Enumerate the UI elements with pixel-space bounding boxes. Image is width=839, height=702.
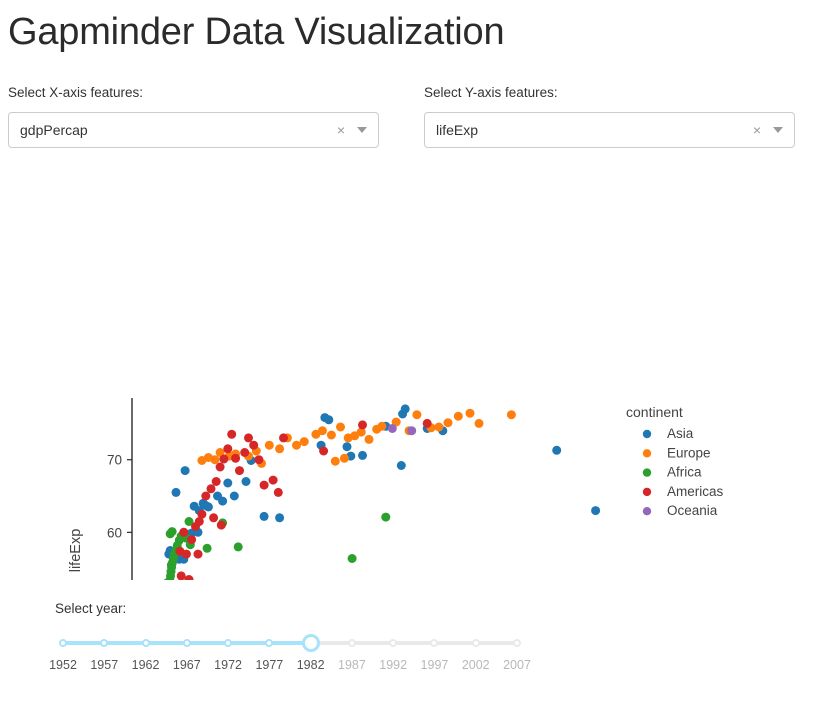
- slider-dot-2007[interactable]: [513, 639, 521, 647]
- data-point[interactable]: [234, 542, 243, 551]
- legend: continentAsiaEuropeAfricaAmericasOceania: [626, 404, 724, 518]
- data-point[interactable]: [218, 497, 227, 506]
- slider-dot-1957[interactable]: [100, 639, 108, 647]
- slider-dot-1992[interactable]: [389, 639, 397, 647]
- data-point[interactable]: [210, 455, 219, 464]
- series-oceania: [388, 424, 416, 435]
- slider-mark-1987[interactable]: 1987: [338, 658, 366, 672]
- legend-swatch-americas[interactable]: [643, 488, 651, 496]
- slider-mark-1957[interactable]: 1957: [90, 658, 118, 672]
- data-point[interactable]: [219, 455, 228, 464]
- legend-label-asia[interactable]: Asia: [667, 426, 694, 441]
- legend-swatch-africa[interactable]: [643, 468, 651, 476]
- data-point[interactable]: [175, 547, 184, 556]
- slider-dot-2002[interactable]: [472, 639, 480, 647]
- slider-dot-1997[interactable]: [430, 639, 438, 647]
- scatter-plot[interactable]: 010k20k30k40506070gdpPercaplifeExpcontin…: [0, 190, 800, 580]
- data-point[interactable]: [275, 444, 284, 453]
- data-point[interactable]: [230, 492, 239, 501]
- data-point[interactable]: [388, 424, 397, 433]
- slider-mark-1977[interactable]: 1977: [255, 658, 283, 672]
- slider-dot-1962[interactable]: [142, 639, 150, 647]
- data-point[interactable]: [179, 528, 188, 537]
- data-point[interactable]: [207, 484, 216, 493]
- legend-label-americas[interactable]: Americas: [667, 484, 724, 499]
- data-point[interactable]: [407, 426, 416, 435]
- year-slider[interactable]: [63, 636, 517, 650]
- data-point[interactable]: [227, 430, 236, 439]
- data-point[interactable]: [223, 479, 232, 488]
- data-point[interactable]: [223, 444, 232, 453]
- data-point[interactable]: [249, 441, 258, 450]
- legend-swatch-europe[interactable]: [643, 449, 651, 457]
- data-point[interactable]: [358, 420, 367, 429]
- data-point[interactable]: [292, 441, 301, 450]
- data-point[interactable]: [398, 410, 407, 419]
- legend-label-oceania[interactable]: Oceania: [667, 503, 718, 518]
- chevron-down-icon[interactable]: [357, 127, 367, 133]
- plot-points: [158, 404, 600, 580]
- data-point[interactable]: [475, 419, 484, 428]
- slider-dot-1952[interactable]: [59, 639, 67, 647]
- clear-icon[interactable]: ×: [747, 123, 767, 137]
- legend-title: continent: [626, 404, 683, 420]
- data-point[interactable]: [217, 521, 226, 530]
- data-point[interactable]: [168, 527, 177, 536]
- data-point[interactable]: [466, 409, 475, 418]
- data-point[interactable]: [212, 477, 221, 486]
- data-point[interactable]: [318, 426, 327, 435]
- data-point[interactable]: [185, 575, 194, 580]
- legend-label-africa[interactable]: Africa: [667, 465, 702, 480]
- slider-mark-1982[interactable]: 1982: [297, 658, 325, 672]
- data-point[interactable]: [591, 506, 600, 515]
- slider-dot-1967[interactable]: [183, 639, 191, 647]
- data-point[interactable]: [240, 448, 249, 457]
- data-point[interactable]: [381, 513, 390, 522]
- data-point[interactable]: [274, 488, 283, 497]
- data-point[interactable]: [254, 455, 263, 464]
- data-point[interactable]: [319, 447, 328, 456]
- clear-icon[interactable]: ×: [331, 123, 351, 137]
- slider-mark-1997[interactable]: 1997: [421, 658, 449, 672]
- data-point[interactable]: [260, 512, 269, 521]
- data-point[interactable]: [275, 513, 284, 522]
- year-slider-group: Select year: 195219571962196719721977198…: [55, 600, 525, 678]
- data-point[interactable]: [507, 410, 516, 419]
- data-point[interactable]: [172, 488, 181, 497]
- slider-handle[interactable]: [302, 634, 320, 652]
- x-axis-selector-label: Select X-axis features:: [8, 84, 379, 102]
- series-africa: [158, 513, 390, 580]
- data-point[interactable]: [167, 561, 176, 570]
- data-point[interactable]: [340, 454, 349, 463]
- data-point[interactable]: [365, 435, 374, 444]
- data-point[interactable]: [269, 476, 278, 485]
- legend-swatch-asia[interactable]: [643, 430, 651, 438]
- legend-label-europe[interactable]: Europe: [667, 445, 711, 460]
- slider-dot-1972[interactable]: [224, 639, 232, 647]
- y-tick-label: 60: [107, 525, 122, 540]
- data-point[interactable]: [187, 535, 196, 544]
- data-point[interactable]: [260, 481, 269, 490]
- slider-dot-1987[interactable]: [348, 639, 356, 647]
- y-axis-title: lifeExp: [68, 529, 84, 573]
- slider-mark-1952[interactable]: 1952: [49, 658, 77, 672]
- slider-mark-2007[interactable]: 2007: [503, 658, 531, 672]
- data-point[interactable]: [235, 466, 244, 475]
- data-point[interactable]: [203, 544, 212, 553]
- data-point[interactable]: [204, 502, 213, 511]
- y-axis-dropdown-value: lifeExp: [436, 121, 747, 139]
- data-point[interactable]: [397, 461, 406, 470]
- slider-tick-labels: 1952195719621967197219771982198719921997…: [63, 658, 517, 678]
- y-tick-label: 70: [107, 453, 122, 468]
- scatter-plot-svg: 010k20k30k40506070gdpPercaplifeExpcontin…: [0, 190, 800, 580]
- data-point[interactable]: [348, 554, 357, 563]
- slider-mark-1967[interactable]: 1967: [173, 658, 201, 672]
- data-point[interactable]: [300, 437, 309, 446]
- data-point[interactable]: [327, 431, 336, 440]
- data-point[interactable]: [181, 466, 190, 475]
- page-title: Gapminder Data Visualization: [8, 8, 504, 56]
- data-point[interactable]: [265, 441, 274, 450]
- slider-mark-2002[interactable]: 2002: [462, 658, 490, 672]
- slider-mark-1992[interactable]: 1992: [379, 658, 407, 672]
- y-axis-dropdown[interactable]: lifeExp ×: [424, 112, 795, 148]
- x-axis-dropdown-value: gdpPercap: [20, 121, 331, 139]
- data-point[interactable]: [336, 423, 345, 432]
- data-point[interactable]: [201, 492, 210, 501]
- data-point[interactable]: [190, 502, 199, 511]
- y-axis-selector-label: Select Y-axis features:: [424, 84, 795, 102]
- slider-mark-1962[interactable]: 1962: [132, 658, 160, 672]
- data-point[interactable]: [279, 433, 288, 442]
- data-point[interactable]: [412, 410, 421, 419]
- data-point[interactable]: [552, 446, 561, 455]
- data-point[interactable]: [244, 433, 253, 442]
- data-point[interactable]: [216, 463, 225, 472]
- data-point[interactable]: [231, 454, 240, 463]
- chevron-down-icon[interactable]: [773, 127, 783, 133]
- data-point[interactable]: [177, 571, 186, 580]
- data-point[interactable]: [324, 415, 333, 424]
- data-point[interactable]: [444, 418, 453, 427]
- data-point[interactable]: [423, 419, 432, 428]
- year-slider-label: Select year:: [55, 600, 525, 618]
- slider-dot-1977[interactable]: [265, 639, 273, 647]
- data-point[interactable]: [434, 423, 443, 432]
- slider-mark-1972[interactable]: 1972: [214, 658, 242, 672]
- app-root: Gapminder Data Visualization Select X-ax…: [0, 0, 839, 702]
- data-point[interactable]: [454, 412, 463, 421]
- data-point[interactable]: [331, 457, 340, 466]
- legend-swatch-oceania[interactable]: [643, 507, 651, 515]
- x-axis-selector-group: Select X-axis features: gdpPercap ×: [8, 84, 379, 148]
- data-point[interactable]: [194, 550, 203, 559]
- data-point[interactable]: [242, 477, 251, 486]
- y-axis-selector-group: Select Y-axis features: lifeExp ×: [424, 84, 795, 148]
- x-axis-dropdown[interactable]: gdpPercap ×: [8, 112, 379, 148]
- data-point[interactable]: [209, 513, 218, 522]
- data-point[interactable]: [343, 442, 352, 451]
- data-point[interactable]: [377, 422, 386, 431]
- data-point[interactable]: [358, 451, 367, 460]
- data-point[interactable]: [197, 510, 206, 519]
